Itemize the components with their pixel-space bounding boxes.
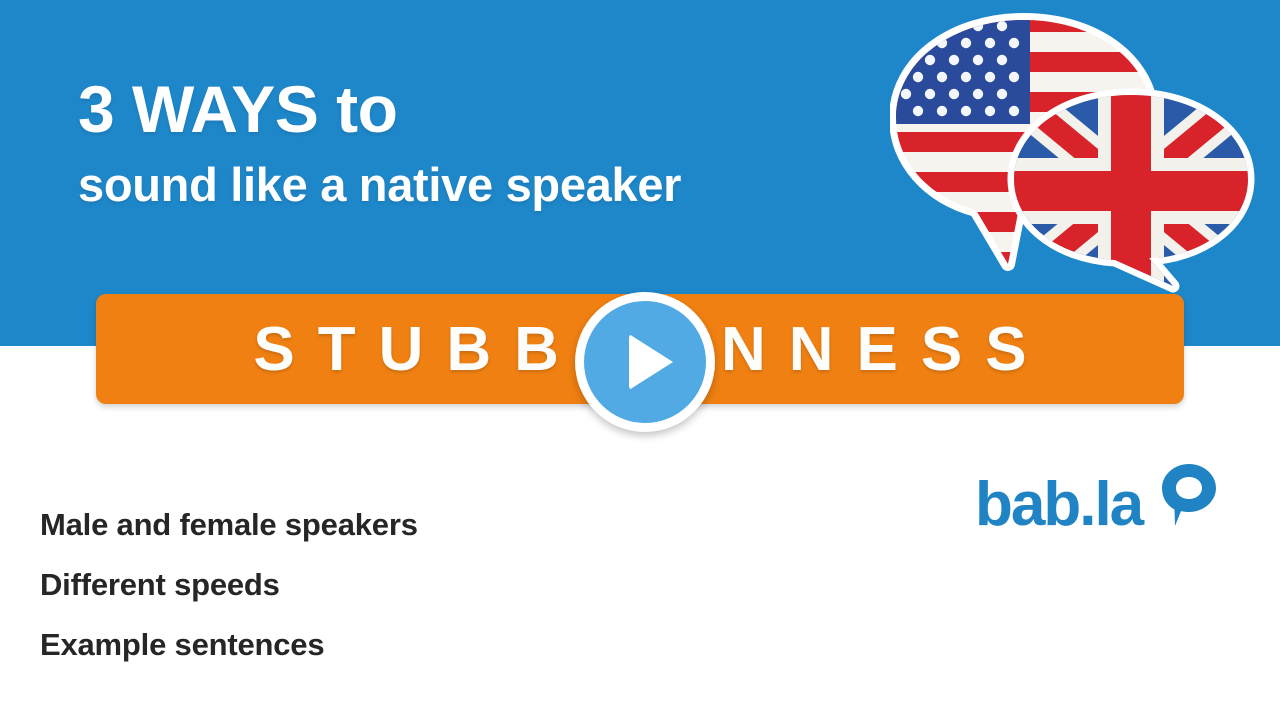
headline-secondary: sound like a native speaker bbox=[78, 158, 898, 212]
play-button-disc bbox=[584, 301, 706, 423]
list-item: Example sentences bbox=[40, 615, 418, 675]
play-button[interactable] bbox=[575, 292, 715, 432]
video-thumbnail-stage: 3 WAYS to sound like a native speaker bbox=[0, 0, 1280, 720]
list-item: Male and female speakers bbox=[40, 495, 418, 555]
feature-list: Male and female speakers Different speed… bbox=[40, 495, 418, 675]
speech-bubble-mark-icon bbox=[1160, 462, 1218, 539]
headline-primary: 3 WAYS to bbox=[78, 72, 898, 146]
headline-block: 3 WAYS to sound like a native speaker bbox=[78, 72, 898, 212]
uk-flag-speech-bubble bbox=[1007, 88, 1255, 293]
list-item: Different speeds bbox=[40, 555, 418, 615]
play-triangle-icon bbox=[629, 334, 673, 390]
flag-bubbles-group bbox=[890, 6, 1270, 291]
babla-logo[interactable]: bab.la bbox=[975, 462, 1210, 552]
babla-logo-text: bab.la bbox=[975, 472, 1142, 538]
